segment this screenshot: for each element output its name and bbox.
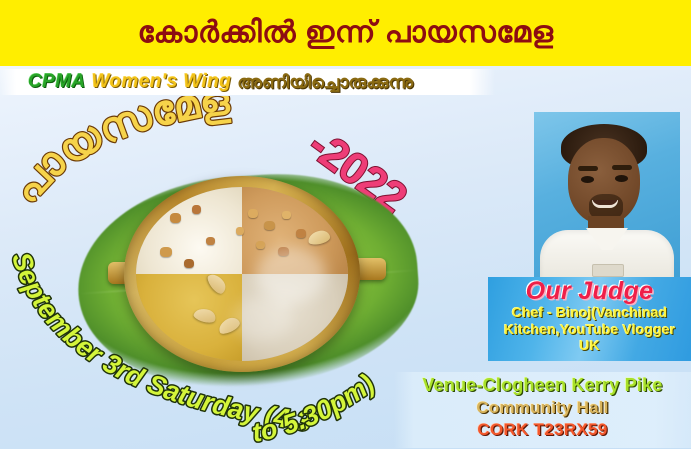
headline-banner: കോർക്കിൽ ഇന്ന് പായസമേള	[0, 0, 691, 66]
nut-garnish	[256, 241, 265, 249]
portrait-eyebrow-right	[612, 165, 632, 170]
judge-name-line-2: Kitchen,YouTube Vlogger	[488, 321, 691, 338]
nut-garnish	[192, 205, 201, 214]
steam-effect	[256, 247, 326, 303]
portrait-eye-right	[615, 175, 628, 182]
org-abbr-text: CPMA	[28, 71, 86, 93]
portrait-eye-left	[581, 176, 594, 183]
event-poster: കോർക്കിൽ ഇന്ന് പായസമേള CPMA Women's Wing…	[0, 0, 691, 449]
portrait-mouth	[592, 200, 618, 208]
headline-text: കോർക്കിൽ ഇന്ന് പായസമേള	[138, 18, 554, 48]
nut-garnish	[160, 247, 172, 257]
pot-interior	[136, 187, 348, 361]
judge-photo	[534, 112, 680, 280]
nut-garnish	[184, 259, 194, 268]
steam-effect	[232, 297, 292, 341]
nut-garnish	[264, 221, 275, 230]
portrait-coat-badge	[592, 264, 624, 277]
venue-panel: Venue-Clogheen Kerry Pike Community Hall…	[394, 372, 691, 448]
venue-line-2: Community Hall	[394, 397, 691, 419]
nut-garnish	[170, 213, 181, 223]
judge-info-panel: Our Judge Chef - Binoj(Vanchinad Kitchen…	[488, 277, 691, 361]
judge-name-line-3: UK	[488, 337, 691, 354]
org-wing-text: Women's Wing	[92, 71, 232, 93]
nut-garnish	[206, 237, 215, 245]
judge-title-text: Our Judge	[488, 278, 691, 304]
nut-garnish	[248, 209, 258, 218]
nut-garnish	[282, 211, 291, 219]
portrait-eyebrow-left	[578, 166, 598, 171]
organiser-line: CPMA Women's Wing അണിയിച്ചൊരുക്കുന്നു	[0, 69, 691, 95]
brass-pot-image	[124, 176, 360, 372]
nut-garnish	[236, 227, 244, 235]
nut-garnish	[296, 229, 306, 238]
venue-line-1: Venue-Clogheen Kerry Pike	[394, 374, 691, 397]
judge-name-line-1: Chef - Binoj(Vanchinad	[488, 304, 691, 321]
venue-postcode: CORK T23RX59	[394, 419, 691, 441]
payasam-quadrant-3	[136, 274, 242, 361]
malayalam-tagline-text: അണിയിച്ചൊരുക്കുന്നു	[237, 72, 413, 93]
